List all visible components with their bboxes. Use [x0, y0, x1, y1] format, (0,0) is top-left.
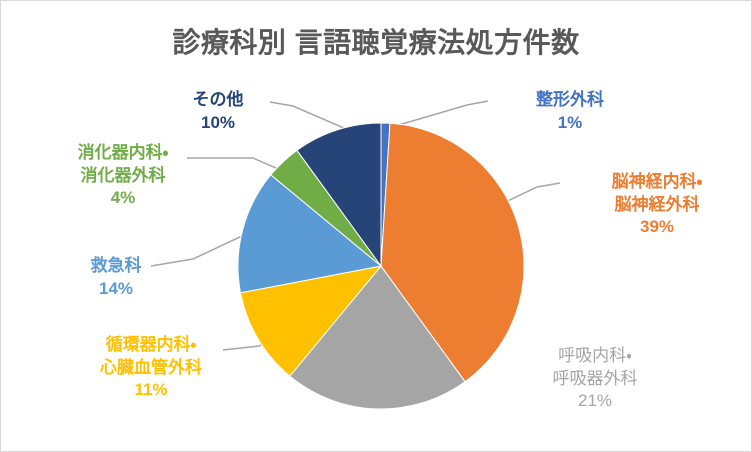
slice-label-shoka-name-line2: 消化器外科 — [81, 166, 166, 185]
slice-label-nou: 脳神経内科・ 脳神経外科 39% — [567, 171, 747, 239]
slice-label-nou-percent: 39% — [567, 216, 747, 239]
slice-label-nou-name-line1: 脳神経内科・ — [612, 172, 703, 191]
slice-label-kokyu: 呼吸内科・ 呼吸器外科 21% — [513, 345, 677, 413]
slice-label-kokyu-percent: 21% — [513, 390, 677, 413]
slice-label-kyukyu: 救急科 14% — [53, 255, 179, 300]
chart-canvas: 診療科別 言語聴覚療法処方件数 整形外科 1% その他 10% 消化器内科・ 消… — [0, 0, 752, 452]
slice-label-kyukyu-percent: 14% — [53, 278, 179, 301]
slice-label-junkan: 循環器内科・ 心臓血管外科 11% — [49, 334, 253, 402]
slice-label-sonota: その他 10% — [163, 89, 273, 134]
slice-label-kokyu-name-line2: 呼吸器外科 — [553, 369, 638, 388]
pie-slices-group — [238, 123, 524, 409]
slice-label-kyukyu-name: 救急科 — [91, 256, 142, 275]
slice-label-junkan-percent: 11% — [49, 379, 253, 402]
slice-label-nou-name-line2: 脳神経外科 — [615, 195, 700, 214]
slice-label-kokyu-name-line1: 呼吸内科・ — [558, 346, 632, 365]
slice-label-junkan-name-line2: 心臓血管外科 — [100, 358, 202, 377]
slice-label-shoka-percent: 4% — [25, 187, 221, 210]
slice-label-seikei-name: 整形外科 — [536, 90, 604, 109]
slice-label-seikei: 整形外科 1% — [495, 89, 645, 134]
slice-label-shoka-name-line1: 消化器内科・ — [78, 143, 169, 162]
slice-label-junkan-name-line1: 循環器内科・ — [106, 335, 197, 354]
slice-label-shoka: 消化器内科・ 消化器外科 4% — [25, 142, 221, 210]
slice-label-sonota-name: その他 — [193, 90, 244, 109]
leader-line-sonota — [270, 102, 353, 132]
slice-label-seikei-percent: 1% — [495, 112, 645, 135]
slice-label-sonota-percent: 10% — [163, 112, 273, 135]
